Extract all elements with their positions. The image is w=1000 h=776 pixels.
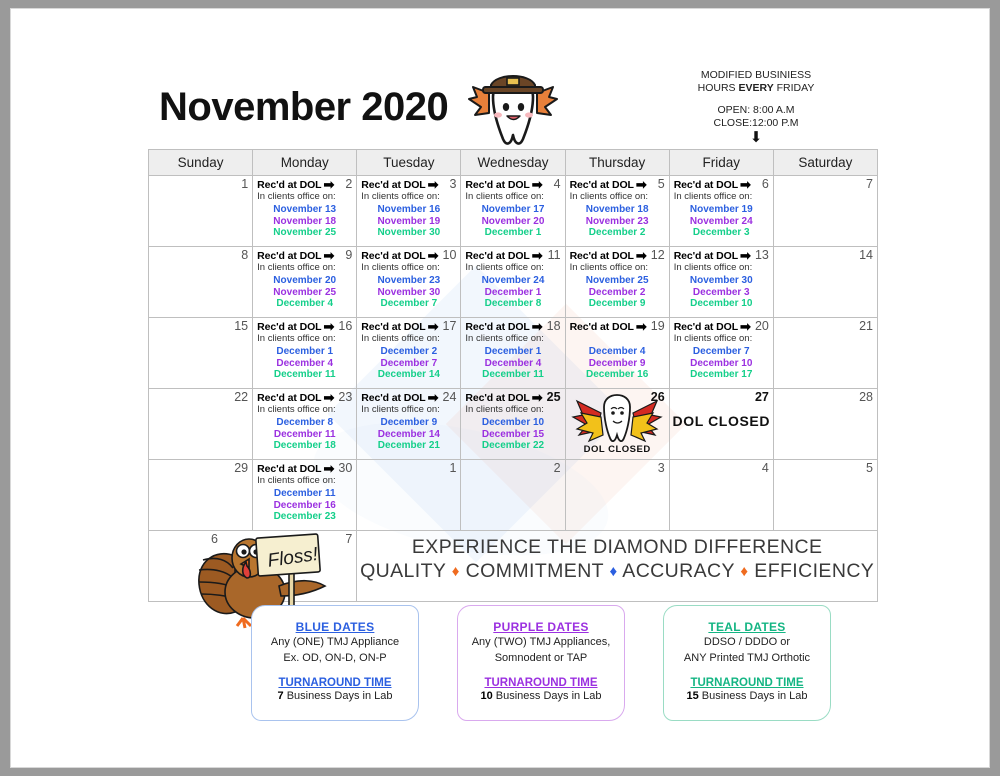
legend-title: PURPLE DATES bbox=[458, 620, 624, 634]
day-number: 11 bbox=[548, 248, 561, 262]
delivery-date: November 30 bbox=[361, 227, 456, 239]
calendar-day-cell[interactable]: Rec'd at DOL➡In clients office on:Decemb… bbox=[461, 318, 565, 389]
delivery-date: December 11 bbox=[257, 429, 352, 441]
delivery-date: December 8 bbox=[257, 417, 352, 429]
calendar-day-cell[interactable]: 3 bbox=[565, 460, 669, 531]
company-slogan: EXPERIENCE THE DIAMOND DIFFERENCE QUALIT… bbox=[357, 531, 877, 584]
legend-desc-line-1: Any (ONE) TMJ Appliance bbox=[252, 636, 418, 650]
delivery-date: December 1 bbox=[465, 287, 560, 299]
calendar-day-cell[interactable]: 8 bbox=[149, 247, 253, 318]
calendar-day-cell[interactable]: Rec'd at DOL➡In clients office on:Novemb… bbox=[357, 247, 461, 318]
weekday-header: Thursday bbox=[565, 150, 669, 176]
day-number: 26 bbox=[651, 390, 665, 404]
delivery-date: December 11 bbox=[257, 369, 352, 381]
right-arrow-icon: ➡ bbox=[532, 393, 543, 403]
delivery-dates-list: December 1December 4December 11 bbox=[257, 346, 352, 381]
day-number: 30 bbox=[338, 461, 352, 475]
calendar-week-row: 29Rec'd at DOL➡In clients office on:Dece… bbox=[149, 460, 878, 531]
right-arrow-icon: ➡ bbox=[740, 251, 751, 261]
hours-line-1: MODIFIED BUSINIESS bbox=[621, 69, 891, 82]
legend-box-purple: PURPLE DATES Any (TWO) TMJ Appliances, S… bbox=[457, 605, 625, 721]
delivery-date: December 11 bbox=[465, 369, 560, 381]
calendar-day-cell[interactable]: Rec'd at DOL➡In clients office on:Decemb… bbox=[253, 389, 357, 460]
diamond-icon: ♦ bbox=[452, 563, 460, 580]
day-number: 7 bbox=[866, 177, 873, 191]
delivery-date: December 4 bbox=[257, 298, 352, 310]
delivery-dates-list: December 4December 9December 16 bbox=[570, 346, 665, 381]
day-number: 6 bbox=[762, 177, 769, 191]
in-clients-office-label: In clients office on: bbox=[257, 191, 352, 202]
day-number: 24 bbox=[443, 390, 457, 404]
day-number: 10 bbox=[443, 248, 457, 262]
day-number: 9 bbox=[345, 248, 352, 262]
delivery-date: December 23 bbox=[257, 511, 352, 523]
day-number: 27 bbox=[755, 390, 769, 404]
day-content: Rec'd at DOL➡In clients office on:Novemb… bbox=[566, 176, 669, 239]
delivery-date: November 19 bbox=[361, 216, 456, 228]
delivery-date: December 10 bbox=[465, 417, 560, 429]
delivery-date: December 2 bbox=[361, 346, 456, 358]
delivery-date: November 13 bbox=[257, 204, 352, 216]
day-content: Rec'd at DOL➡In clients office on:Novemb… bbox=[670, 176, 773, 239]
slogan-line-1: EXPERIENCE THE DIAMOND DIFFERENCE bbox=[357, 535, 877, 559]
day-number: 2 bbox=[345, 177, 352, 191]
calendar-day-cell[interactable]: Rec'd at DOL➡In clients office on:Novemb… bbox=[461, 176, 565, 247]
right-arrow-icon: ➡ bbox=[323, 180, 334, 190]
delivery-date: November 25 bbox=[257, 227, 352, 239]
right-arrow-icon: ➡ bbox=[740, 322, 751, 332]
in-clients-office-label: In clients office on: bbox=[570, 191, 665, 202]
diamond-icon: ♦ bbox=[609, 563, 617, 580]
day-number: 8 bbox=[241, 248, 248, 262]
dol-closed-label: DOL CLOSED bbox=[566, 444, 669, 455]
received-at-dol-label: Rec'd at DOL➡ bbox=[465, 250, 560, 262]
delivery-dates-list: November 18November 23December 2 bbox=[570, 204, 665, 239]
day-number: 3 bbox=[449, 177, 456, 191]
received-at-dol-label: Rec'd at DOL➡ bbox=[570, 179, 665, 191]
delivery-date: November 23 bbox=[570, 216, 665, 228]
weekday-header: Tuesday bbox=[357, 150, 461, 176]
calendar-day-cell[interactable]: 5 bbox=[773, 460, 877, 531]
day-content: Rec'd at DOL➡In clients office on:Novemb… bbox=[461, 176, 564, 239]
calendar-day-cell[interactable]: 14 bbox=[773, 247, 877, 318]
delivery-dates-list: November 19November 24December 3 bbox=[674, 204, 769, 239]
page-title: November 2020 bbox=[159, 85, 448, 130]
in-clients-office-label: In clients office on: bbox=[361, 191, 456, 202]
in-clients-office-label: In clients office on: bbox=[465, 404, 560, 415]
delivery-date: December 9 bbox=[570, 358, 665, 370]
day-number: 21 bbox=[859, 319, 873, 333]
slogan-line-2: QUALITY ♦ COMMITMENT ♦ ACCURACY ♦ EFFICI… bbox=[357, 559, 877, 584]
calendar-day-cell[interactable]: Rec'd at DOL➡In clients office on:Decemb… bbox=[253, 460, 357, 531]
right-arrow-icon: ➡ bbox=[323, 251, 334, 261]
pilgrim-tooth-mascot-icon bbox=[463, 59, 563, 151]
delivery-date: December 2 bbox=[570, 287, 665, 299]
day-content: Rec'd at DOL➡In clients office on:Novemb… bbox=[253, 176, 356, 239]
calendar-sheet: November 2020 MODIFIED BUSINIESS HOURS E… bbox=[10, 8, 990, 768]
delivery-date: December 4 bbox=[465, 358, 560, 370]
received-at-dol-label: Rec'd at DOL➡ bbox=[674, 179, 769, 191]
weekday-header: Wednesday bbox=[461, 150, 565, 176]
calendar-day-cell[interactable]: Rec'd at DOL➡ December 4December 9Decemb… bbox=[565, 318, 669, 389]
legend-desc-line-2: Ex. OD, ON-D, ON-P bbox=[252, 652, 418, 666]
calendar-day-cell[interactable]: Rec'd at DOL➡In clients office on:Decemb… bbox=[357, 318, 461, 389]
in-clients-office-label: In clients office on: bbox=[257, 262, 352, 273]
delivery-dates-list: December 7December 10December 17 bbox=[674, 346, 769, 381]
day-number: 23 bbox=[338, 390, 352, 404]
delivery-dates-list: December 2December 7December 14 bbox=[361, 346, 456, 381]
right-arrow-icon: ➡ bbox=[428, 322, 439, 332]
legend-turnaround-days: 10 Business Days in Lab bbox=[458, 690, 624, 702]
delivery-date: November 23 bbox=[361, 275, 456, 287]
delivery-dates-list: November 17November 20December 1 bbox=[465, 204, 560, 239]
right-arrow-icon: ➡ bbox=[428, 393, 439, 403]
legend-desc-line-1: Any (TWO) TMJ Appliances, bbox=[458, 636, 624, 650]
down-arrow-icon: ⬇ bbox=[621, 131, 891, 144]
day-number: 18 bbox=[547, 319, 561, 333]
delivery-dates-list: November 30December 3December 10 bbox=[674, 275, 769, 310]
delivery-date: December 9 bbox=[570, 298, 665, 310]
delivery-date: December 10 bbox=[674, 298, 769, 310]
delivery-date: December 16 bbox=[570, 369, 665, 381]
calendar-day-cell[interactable]: Rec'd at DOL➡In clients office on:Novemb… bbox=[357, 176, 461, 247]
delivery-dates-list: December 1December 4December 11 bbox=[465, 346, 560, 381]
right-arrow-icon: ➡ bbox=[323, 464, 334, 474]
day-number: 4 bbox=[762, 461, 769, 475]
calendar-day-cell[interactable]: 1 bbox=[149, 176, 253, 247]
received-at-dol-label: Rec'd at DOL➡ bbox=[257, 179, 352, 191]
day-number: 2 bbox=[554, 461, 561, 475]
weekday-header-row: Sunday Monday Tuesday Wednesday Thursday… bbox=[149, 150, 878, 176]
calendar-day-cell[interactable]: Rec'd at DOL➡In clients office on:Novemb… bbox=[669, 247, 773, 318]
calendar-day-cell[interactable]: 15 bbox=[149, 318, 253, 389]
calendar-day-cell[interactable]: DOL CLOSED26 bbox=[565, 389, 669, 460]
modified-hours-notice: MODIFIED BUSINIESS HOURS EVERY FRIDAY OP… bbox=[621, 69, 891, 144]
day-content: Rec'd at DOL➡In clients office on:Novemb… bbox=[357, 176, 460, 239]
calendar-day-cell[interactable]: 2 bbox=[461, 460, 565, 531]
delivery-date: November 20 bbox=[257, 275, 352, 287]
calendar-day-cell[interactable]: 28 bbox=[773, 389, 877, 460]
delivery-dates-list: November 24December 1December 8 bbox=[465, 275, 560, 310]
delivery-date: December 8 bbox=[465, 298, 560, 310]
legend-turnaround-days: 7 Business Days in Lab bbox=[252, 690, 418, 702]
day-number: 28 bbox=[859, 390, 873, 404]
legend-title: TEAL DATES bbox=[664, 620, 830, 634]
legend-desc-line-1: DDSO / DDDO or bbox=[664, 636, 830, 650]
in-clients-office-label: In clients office on: bbox=[361, 404, 456, 415]
delivery-dates-list: December 9December 14December 21 bbox=[361, 417, 456, 452]
in-clients-office-label: In clients office on: bbox=[257, 333, 352, 344]
received-at-dol-label: Rec'd at DOL➡ bbox=[465, 179, 560, 191]
day-number: 14 bbox=[859, 248, 873, 262]
weekday-header: Saturday bbox=[773, 150, 877, 176]
delivery-date: November 18 bbox=[570, 204, 665, 216]
delivery-date: December 3 bbox=[674, 227, 769, 239]
delivery-dates-list: November 13November 18November 25 bbox=[257, 204, 352, 239]
day-number: 22 bbox=[234, 390, 248, 404]
day-number: 15 bbox=[234, 319, 248, 333]
delivery-date: November 17 bbox=[465, 204, 560, 216]
right-arrow-icon: ➡ bbox=[636, 251, 647, 261]
calendar-day-cell[interactable]: Rec'd at DOL➡In clients office on:Novemb… bbox=[565, 176, 669, 247]
delivery-date: December 10 bbox=[674, 358, 769, 370]
calendar-day-cell[interactable]: 22 bbox=[149, 389, 253, 460]
slogan-cell: EXPERIENCE THE DIAMOND DIFFERENCE QUALIT… bbox=[357, 531, 878, 602]
delivery-date: December 16 bbox=[257, 500, 352, 512]
legend-box-blue: BLUE DATES Any (ONE) TMJ Appliance Ex. O… bbox=[251, 605, 419, 721]
legend-box-teal: TEAL DATES DDSO / DDDO or ANY Printed TM… bbox=[663, 605, 831, 721]
day-number: 29 bbox=[234, 461, 248, 475]
right-arrow-icon: ➡ bbox=[532, 180, 543, 190]
calendar-week-row: 8Rec'd at DOL➡In clients office on:Novem… bbox=[149, 247, 878, 318]
calendar-day-cell[interactable]: Rec'd at DOL➡In clients office on:Novemb… bbox=[669, 176, 773, 247]
calendar-day-cell[interactable]: 7 bbox=[773, 176, 877, 247]
legend-desc-line-2: Somnodent or TAP bbox=[458, 652, 624, 666]
day-number: 25 bbox=[547, 390, 561, 404]
legend-turnaround-label: TURNAROUND TIME bbox=[252, 677, 418, 689]
calendar-day-cell[interactable]: Rec'd at DOL➡In clients office on:Novemb… bbox=[461, 247, 565, 318]
delivery-date: December 7 bbox=[674, 346, 769, 358]
day-number: 13 bbox=[755, 248, 769, 262]
delivery-date: November 25 bbox=[570, 275, 665, 287]
delivery-date: December 9 bbox=[361, 417, 456, 429]
delivery-date: December 17 bbox=[674, 369, 769, 381]
day-number: 1 bbox=[449, 461, 456, 475]
day-number: 3 bbox=[658, 461, 665, 475]
delivery-date: November 19 bbox=[674, 204, 769, 216]
right-arrow-icon: ➡ bbox=[636, 322, 647, 332]
delivery-date: November 25 bbox=[257, 287, 352, 299]
day-content: Rec'd at DOL➡In clients office on:Novemb… bbox=[253, 247, 356, 310]
delivery-dates-list: November 25December 2December 9 bbox=[570, 275, 665, 310]
calendar-day-cell[interactable]: 21 bbox=[773, 318, 877, 389]
day-number: 20 bbox=[755, 319, 769, 333]
delivery-date: December 4 bbox=[570, 346, 665, 358]
in-clients-office-label: In clients office on: bbox=[465, 191, 560, 202]
delivery-date: December 7 bbox=[361, 298, 456, 310]
in-clients-office-label: In clients office on: bbox=[361, 333, 456, 344]
delivery-date: December 21 bbox=[361, 440, 456, 452]
delivery-date: December 7 bbox=[361, 358, 456, 370]
delivery-date: December 22 bbox=[465, 440, 560, 452]
received-at-dol-label: Rec'd at DOL➡ bbox=[257, 250, 352, 262]
in-clients-office-label: In clients office on: bbox=[674, 262, 769, 273]
legend-turnaround-label: TURNAROUND TIME bbox=[458, 677, 624, 689]
delivery-date: December 1 bbox=[465, 346, 560, 358]
in-clients-office-label: In clients office on: bbox=[465, 262, 560, 273]
right-arrow-icon: ➡ bbox=[532, 322, 543, 332]
weekday-header: Monday bbox=[253, 150, 357, 176]
delivery-dates-list: November 23November 30December 7 bbox=[361, 275, 456, 310]
calendar-day-cell[interactable]: Rec'd at DOL➡In clients office on:Decemb… bbox=[357, 389, 461, 460]
delivery-dates-list: December 8December 11December 18 bbox=[257, 417, 352, 452]
in-clients-office-label: In clients office on: bbox=[257, 404, 352, 415]
delivery-dates-list: November 16November 19November 30 bbox=[361, 204, 456, 239]
calendar-week-row: 1Rec'd at DOL➡In clients office on:Novem… bbox=[149, 176, 878, 247]
right-arrow-icon: ➡ bbox=[428, 251, 439, 261]
delivery-date: December 3 bbox=[674, 287, 769, 299]
delivery-date: November 24 bbox=[465, 275, 560, 287]
diamond-icon: ♦ bbox=[740, 563, 748, 580]
calendar-day-cell[interactable]: Rec'd at DOL➡In clients office on:Novemb… bbox=[253, 247, 357, 318]
turkey-tooth-icon bbox=[571, 391, 663, 445]
delivery-date: December 15 bbox=[465, 429, 560, 441]
legend-turnaround-days: 15 Business Days in Lab bbox=[664, 690, 830, 702]
calendar-day-cell[interactable]: Rec'd at DOL➡In clients office on:Novemb… bbox=[253, 176, 357, 247]
day-number: 5 bbox=[658, 177, 665, 191]
right-arrow-icon: ➡ bbox=[636, 180, 647, 190]
delivery-date: December 14 bbox=[361, 369, 456, 381]
delivery-date: December 1 bbox=[465, 227, 560, 239]
day-number: 12 bbox=[651, 248, 665, 262]
day-number: 1 bbox=[241, 177, 248, 191]
dol-closed-label: DOL CLOSED bbox=[670, 413, 773, 429]
legend-turnaround-label: TURNAROUND TIME bbox=[664, 677, 830, 689]
right-arrow-icon: ➡ bbox=[532, 251, 543, 261]
delivery-date: December 14 bbox=[361, 429, 456, 441]
weekday-header: Sunday bbox=[149, 150, 253, 176]
delivery-dates-list: December 10December 15December 22 bbox=[465, 417, 560, 452]
in-clients-office-label: In clients office on: bbox=[570, 262, 665, 273]
delivery-date: December 18 bbox=[257, 440, 352, 452]
day-number: 16 bbox=[338, 319, 352, 333]
in-clients-office-label: In clients office on: bbox=[674, 333, 769, 344]
calendar-day-cell[interactable]: Rec'd at DOL➡In clients office on:Decemb… bbox=[669, 318, 773, 389]
delivery-date: November 30 bbox=[361, 287, 456, 299]
calendar-day-cell[interactable]: Rec'd at DOL➡In clients office on:Decemb… bbox=[253, 318, 357, 389]
received-at-dol-label: Rec'd at DOL➡ bbox=[361, 179, 456, 191]
day-number: 4 bbox=[554, 177, 561, 191]
weekday-header: Friday bbox=[669, 150, 773, 176]
delivery-date: December 4 bbox=[257, 358, 352, 370]
right-arrow-icon: ➡ bbox=[740, 180, 751, 190]
calendar-week-row: 22Rec'd at DOL➡In clients office on:Dece… bbox=[149, 389, 878, 460]
right-arrow-icon: ➡ bbox=[323, 322, 334, 332]
delivery-date: November 30 bbox=[674, 275, 769, 287]
delivery-dates-list: November 20November 25December 4 bbox=[257, 275, 352, 310]
calendar-day-cell[interactable]: 1 bbox=[357, 460, 461, 531]
day-number: 19 bbox=[651, 319, 665, 333]
in-clients-office-spacer bbox=[570, 333, 665, 344]
delivery-date: November 24 bbox=[674, 216, 769, 228]
calendar-day-cell[interactable]: 29 bbox=[149, 460, 253, 531]
calendar-day-cell[interactable]: 4 bbox=[669, 460, 773, 531]
right-arrow-icon: ➡ bbox=[323, 393, 334, 403]
delivery-date: November 16 bbox=[361, 204, 456, 216]
hours-line-2: HOURS EVERY FRIDAY bbox=[621, 82, 891, 95]
delivery-date: November 20 bbox=[465, 216, 560, 228]
delivery-date: December 2 bbox=[570, 227, 665, 239]
calendar-day-cell[interactable]: Rec'd at DOL➡In clients office on:Novemb… bbox=[565, 247, 669, 318]
in-clients-office-label: In clients office on: bbox=[361, 262, 456, 273]
delivery-dates-list: December 11December 16December 23 bbox=[257, 488, 352, 523]
calendar-day-cell[interactable]: DOL CLOSED27 bbox=[669, 389, 773, 460]
delivery-date: December 1 bbox=[257, 346, 352, 358]
delivery-date: November 18 bbox=[257, 216, 352, 228]
delivery-date: December 11 bbox=[257, 488, 352, 500]
hours-open: OPEN: 8:00 A.M bbox=[621, 104, 891, 117]
day-number: 17 bbox=[443, 319, 457, 333]
calendar-page: November 2020 MODIFIED BUSINIESS HOURS E… bbox=[0, 0, 1000, 776]
legend-title: BLUE DATES bbox=[252, 620, 418, 634]
in-clients-office-label: In clients office on: bbox=[674, 191, 769, 202]
legend-desc-line-2: ANY Printed TMJ Orthotic bbox=[664, 652, 830, 666]
in-clients-office-label: In clients office on: bbox=[465, 333, 560, 344]
day-number: 5 bbox=[866, 461, 873, 475]
calendar-week-row: 15Rec'd at DOL➡In clients office on:Dece… bbox=[149, 318, 878, 389]
right-arrow-icon: ➡ bbox=[428, 180, 439, 190]
calendar-day-cell[interactable]: Rec'd at DOL➡In clients office on:Decemb… bbox=[461, 389, 565, 460]
in-clients-office-label: In clients office on: bbox=[257, 475, 352, 486]
